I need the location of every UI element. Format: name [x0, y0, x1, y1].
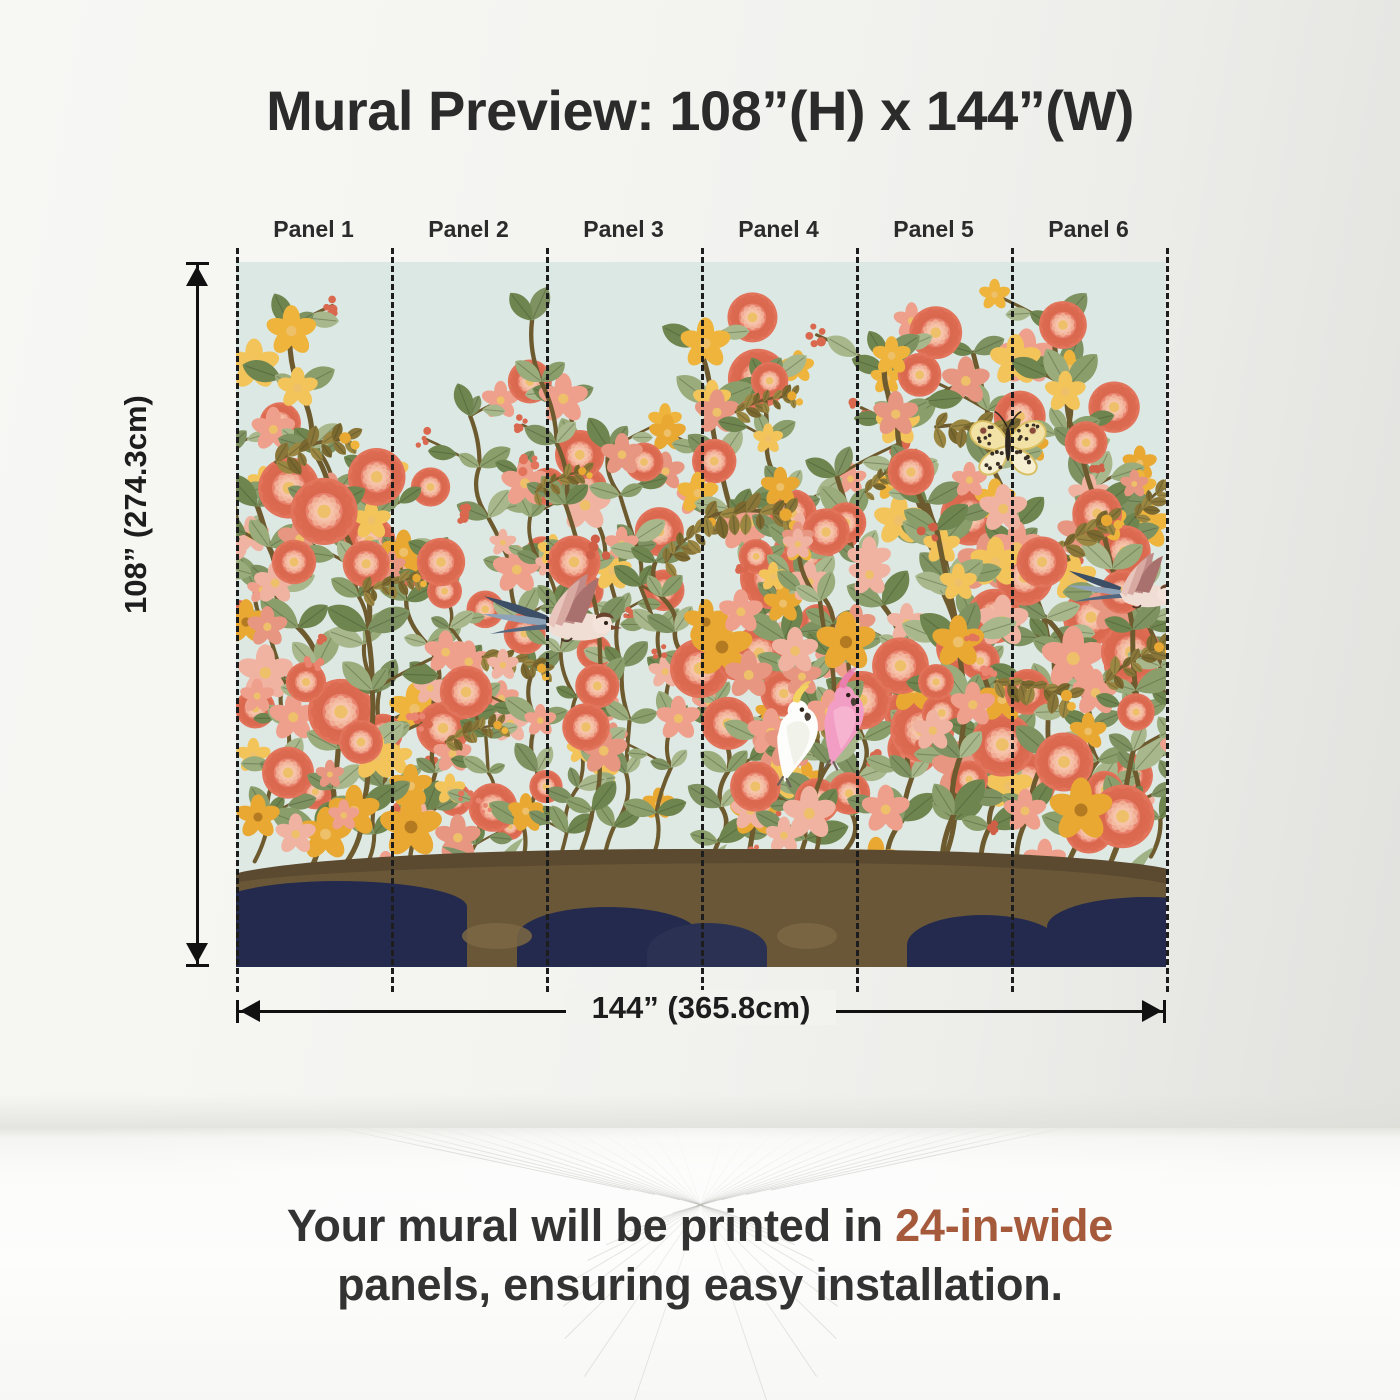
panel-label-6: Panel 6	[1048, 216, 1129, 243]
panel-divider-line-5	[1011, 248, 1014, 992]
panel-label-2: Panel 2	[428, 216, 509, 243]
stone	[777, 923, 837, 949]
width-dimension-label: 144” (365.8cm)	[566, 990, 837, 1025]
mural-preview-screenshot: Mural Preview: 108”(H) x 144”(W) Panel 1…	[0, 0, 1400, 1400]
mural-edge-line	[1166, 248, 1169, 992]
height-dimension-label: 108” (274.3cm)	[118, 395, 154, 614]
panel-divider-line-1	[391, 248, 394, 992]
caption-line-1-text: Your mural will be printed in	[287, 1200, 895, 1251]
panel-label-3: Panel 3	[583, 216, 664, 243]
mural-edge-line	[236, 248, 239, 992]
panel-label-5: Panel 5	[893, 216, 974, 243]
caption-highlight: 24-in-wide	[895, 1200, 1113, 1251]
caption-line-2: panels, ensuring easy installation.	[0, 1255, 1400, 1314]
stone	[462, 923, 532, 949]
arrow-head-up-icon	[186, 266, 208, 286]
panel-divider-line-2	[546, 248, 549, 992]
arrow-head-down-icon	[186, 943, 208, 963]
panel-divider-line-3	[701, 248, 704, 992]
floor-plank-line	[388, 1128, 680, 1200]
height-arrow-line	[196, 262, 199, 967]
panel-divider-line-4	[856, 248, 859, 992]
width-dimension-label-wrap: 144” (365.8cm)	[236, 990, 1166, 1026]
width-dimension-arrow: 144” (365.8cm)	[236, 1000, 1166, 1022]
panel-label-4: Panel 4	[738, 216, 819, 243]
page-title: Mural Preview: 108”(H) x 144”(W)	[0, 78, 1400, 143]
caption-line-1: Your mural will be printed in 24-in-wide	[0, 1196, 1400, 1255]
height-dimension-arrow	[186, 262, 208, 967]
water-patch	[907, 915, 1057, 967]
water-patch	[236, 881, 467, 967]
panel-label-1: Panel 1	[273, 216, 354, 243]
installation-caption: Your mural will be printed in 24-in-wide…	[0, 1196, 1400, 1315]
